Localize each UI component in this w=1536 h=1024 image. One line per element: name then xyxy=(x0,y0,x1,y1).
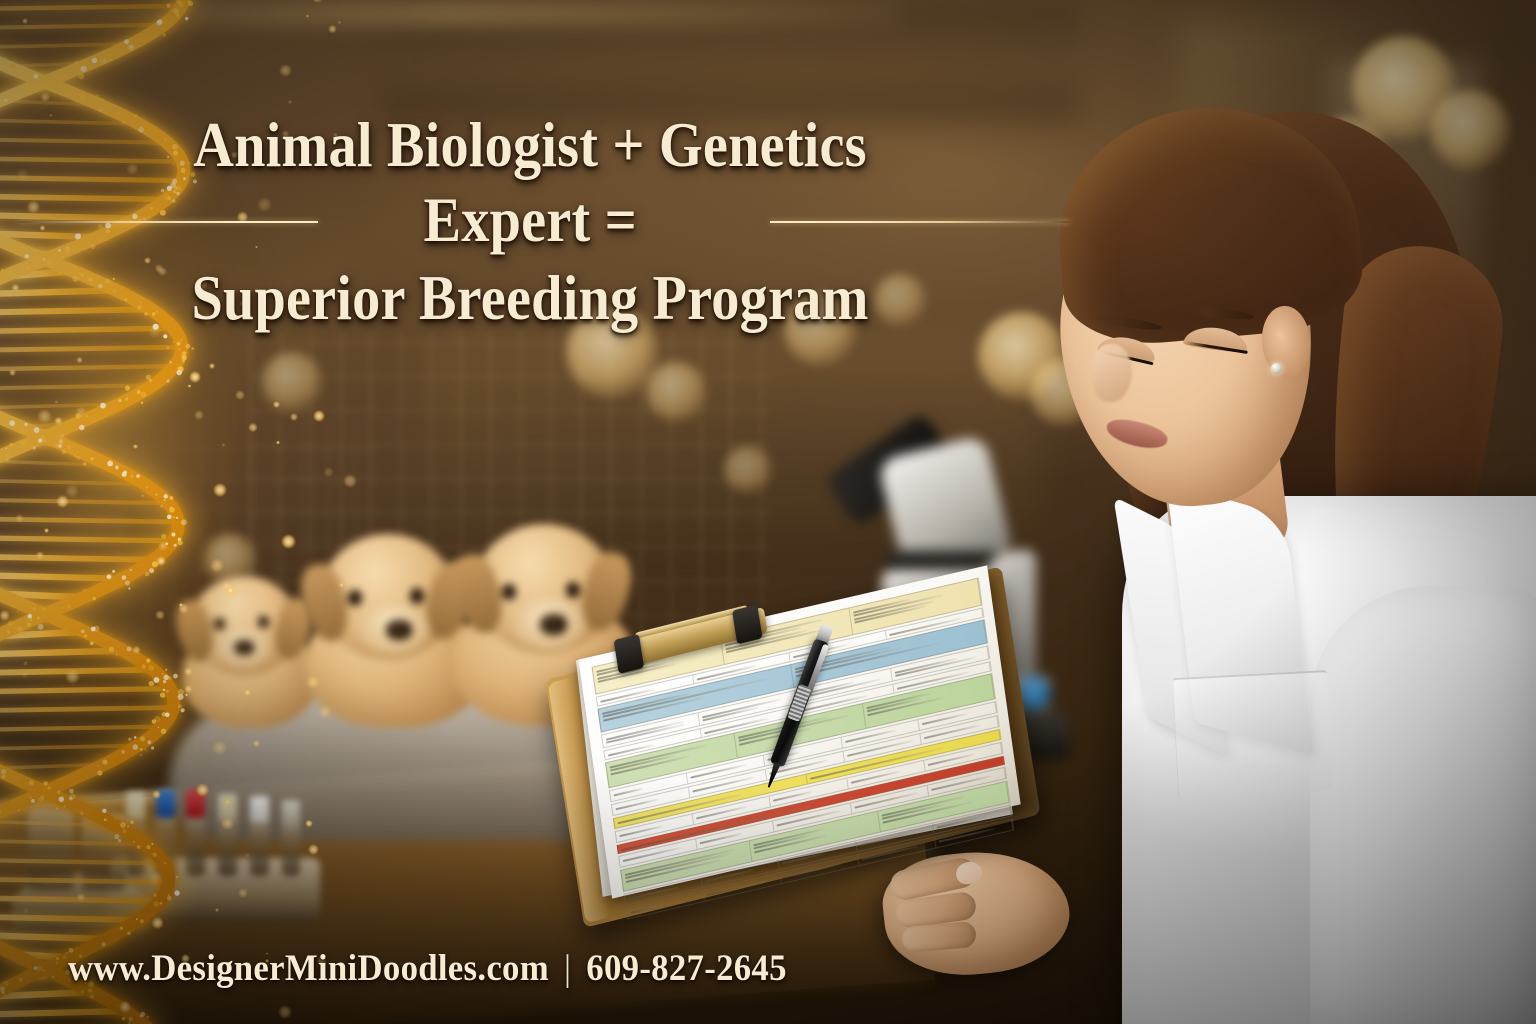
contact-footer: www.DesignerMiniDoodles.com | 609-827-26… xyxy=(68,947,787,990)
website-url[interactable]: www.DesignerMiniDoodles.com xyxy=(68,947,549,990)
headline-line-1: Animal Biologist + Genetics xyxy=(64,112,997,179)
headline-block: Animal Biologist + Genetics Expert = Sup… xyxy=(0,112,1060,331)
headline-line-2: Expert = xyxy=(418,187,642,254)
footer-separator: | xyxy=(549,947,586,990)
divider-rule-left xyxy=(18,221,318,223)
headline-line-3: Superior Breeding Program xyxy=(64,265,997,332)
headline-middle-row: Expert = xyxy=(0,179,1060,263)
divider-rule-right xyxy=(770,221,1070,223)
promotional-banner: Animal Biologist + Genetics Expert = Sup… xyxy=(0,0,1536,1024)
phone-number[interactable]: 609-827-2645 xyxy=(586,947,786,990)
